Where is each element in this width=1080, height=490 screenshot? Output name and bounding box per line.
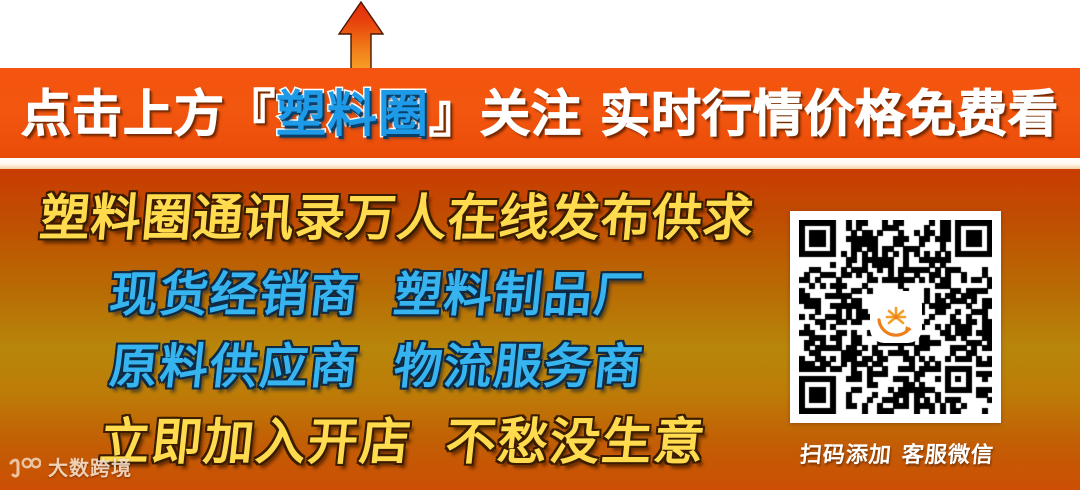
- qr-center-logo-icon: [873, 294, 919, 340]
- headline-suffix: 实时行情价格免费看: [600, 85, 1059, 143]
- body-line-dealers-left: 现货经销商: [107, 267, 363, 323]
- qr-caption: 扫码添加客服微信: [789, 437, 1006, 469]
- headline-prefix: 点击上方: [21, 85, 225, 143]
- body-line-suppliers-left: 原料供应商: [107, 339, 363, 395]
- promo-banner: 点击上方『塑料圈』关注实时行情价格免费看 塑料圈通讯录万人在线发布供求 现货经销…: [0, 0, 1080, 490]
- watermark-text: 大数跨境: [48, 452, 132, 481]
- headline-bracket-close: 』: [429, 85, 480, 143]
- body-line-cta-right: 不愁没生意: [443, 413, 709, 471]
- body-line-suppliers: 原料供应商物流服务商: [107, 343, 646, 391]
- message-column: 塑料圈通讯录万人在线发布供求 现货经销商塑料制品厂 原料供应商物流服务商 立即加…: [0, 169, 760, 490]
- qr-caption-right: 客服微信: [901, 443, 995, 468]
- body-line-directory: 塑料圈通讯录万人在线发布供求: [38, 193, 756, 243]
- top-white-strip: [0, 0, 1080, 68]
- up-arrow-icon: [336, 1, 386, 70]
- headline-middle: 关注: [480, 85, 582, 143]
- headline-bar: 点击上方『塑料圈』关注实时行情价格免费看: [0, 68, 1080, 160]
- qr-block: 扫码添加客服微信: [790, 211, 1004, 479]
- body-line-dealers-right: 塑料制品厂: [391, 267, 647, 323]
- qr-caption-left: 扫码添加: [799, 443, 893, 468]
- headline-text: 点击上方『塑料圈』关注实时行情价格免费看: [21, 89, 1059, 139]
- headline-bracket-open: 『: [225, 85, 276, 143]
- watermark-logo-icon: [7, 456, 41, 478]
- body-line-dealers: 现货经销商塑料制品厂: [107, 271, 646, 319]
- watermark: 大数跨境: [7, 452, 132, 481]
- separator-line: [0, 158, 1080, 169]
- body-line-suppliers-right: 物流服务商: [391, 339, 647, 395]
- headline-brand[interactable]: 塑料圈: [276, 85, 429, 143]
- body-line-cta: 立即加入开店不愁没生意: [97, 417, 708, 467]
- body-line-cta-left: 立即加入开店: [97, 413, 415, 471]
- qr-code[interactable]: [790, 211, 1001, 423]
